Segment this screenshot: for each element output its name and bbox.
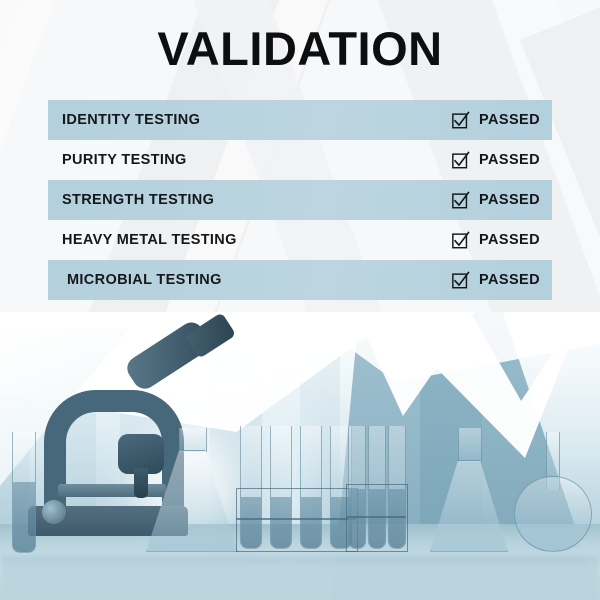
status-badge: PASSED <box>479 232 540 248</box>
checklist-row-status: PASSED <box>452 192 540 209</box>
checked-checkbox-icon <box>452 152 469 169</box>
volumetric-flask-icon <box>514 432 590 552</box>
checked-checkbox-icon <box>452 192 469 209</box>
checked-checkbox-icon <box>452 112 469 129</box>
test-tube-rack-icon <box>238 426 360 552</box>
status-badge: PASSED <box>479 112 540 128</box>
status-badge: PASSED <box>479 192 540 208</box>
checked-checkbox-icon <box>452 272 469 289</box>
validation-poster: VALIDATION IDENTITY TESTING PASSED PURIT… <box>0 0 600 600</box>
checklist-row-status: PASSED <box>452 272 540 289</box>
checklist-row-label: IDENTITY TESTING <box>62 112 200 128</box>
checklist-row[interactable]: PURITY TESTING PASSED <box>48 140 552 180</box>
checklist-row-status: PASSED <box>452 152 540 169</box>
page-title: VALIDATION <box>0 23 600 75</box>
erlenmeyer-flask-icon <box>430 460 508 552</box>
checklist-row-label: MICROBIAL TESTING <box>67 272 222 288</box>
status-badge: PASSED <box>479 272 540 288</box>
checklist-row-label: STRENGTH TESTING <box>62 192 214 208</box>
checklist-row[interactable]: MICROBIAL TESTING PASSED <box>48 260 552 300</box>
checklist-row-status: PASSED <box>452 112 540 129</box>
validation-checklist: IDENTITY TESTING PASSED PURITY TESTING <box>0 100 600 300</box>
checklist-row[interactable]: IDENTITY TESTING PASSED <box>48 100 552 140</box>
checklist-row[interactable]: HEAVY METAL TESTING PASSED <box>48 220 552 260</box>
status-badge: PASSED <box>479 152 540 168</box>
checklist-row-label: HEAVY METAL TESTING <box>62 232 237 248</box>
test-tube-rack-icon <box>348 426 406 552</box>
checked-checkbox-icon <box>452 232 469 249</box>
erlenmeyer-flask-icon <box>146 450 238 552</box>
bench-reflection <box>0 556 600 600</box>
checklist-row[interactable]: STRENGTH TESTING PASSED <box>48 180 552 220</box>
checklist-row-label: PURITY TESTING <box>62 152 187 168</box>
lab-photo <box>0 312 600 600</box>
checklist-row-status: PASSED <box>452 232 540 249</box>
test-tube-icon <box>12 432 36 553</box>
